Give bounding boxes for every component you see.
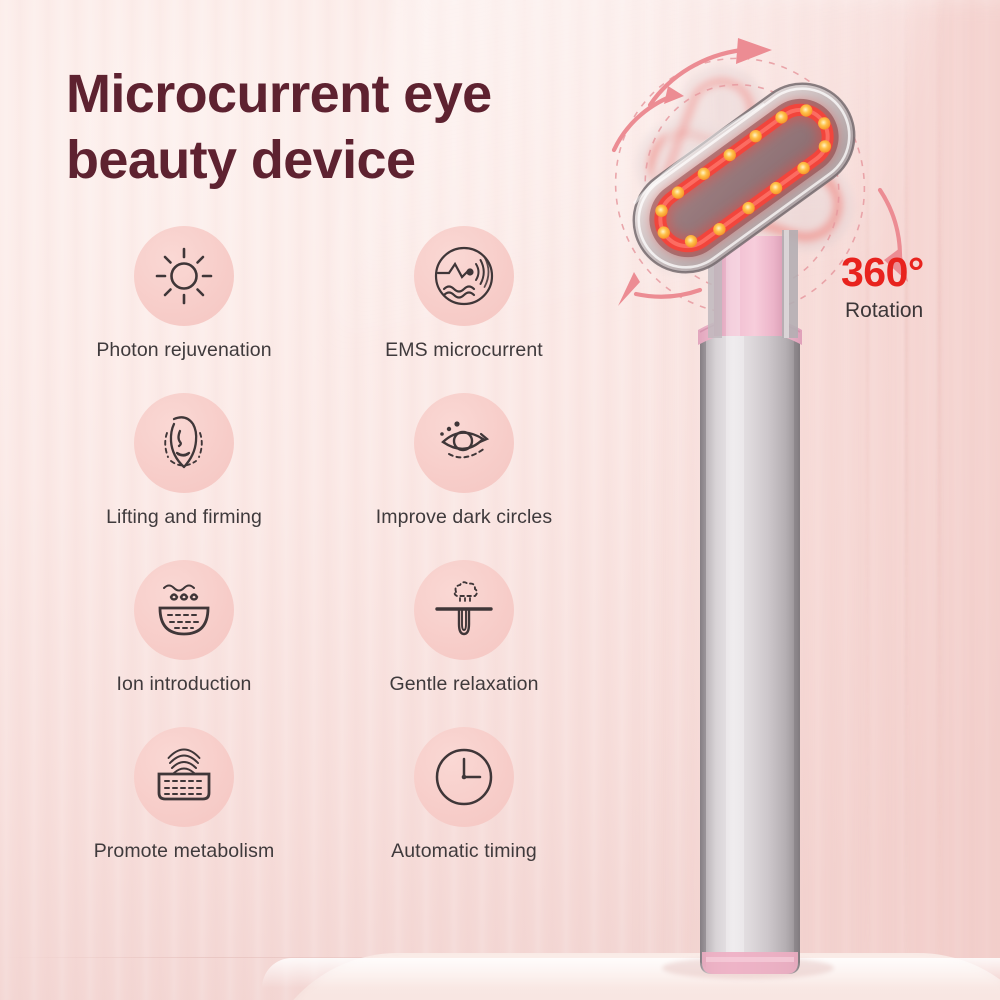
feature-icon-circle (134, 560, 234, 660)
feature-icon-circle (414, 393, 514, 493)
ems-wave-icon (432, 244, 496, 308)
feature-label: Automatic timing (391, 840, 537, 863)
page-title: Microcurrent eye beauty device (66, 62, 626, 194)
feature-label: Ion introduction (117, 673, 252, 696)
feature-label: EMS microcurrent (385, 339, 543, 362)
feature-icon-circle (134, 727, 234, 827)
feature-icon-circle (414, 727, 514, 827)
table-pedestal-rim (262, 958, 1000, 988)
feature-icon-circle (134, 226, 234, 326)
background-vertical-line-3 (866, 0, 869, 1000)
feature-row-1: Photon rejuvenation EMS microcurr (44, 226, 604, 362)
sun-icon (153, 245, 215, 307)
feature-item-improve-dark-circles: Improve dark circles (324, 393, 604, 529)
page-title-line-2: beauty device (66, 128, 626, 194)
feature-item-lifting-and-firming: Lifting and firming (44, 393, 324, 529)
feature-item-ion-introduction: Ion introduction (44, 560, 324, 696)
rotation-badge: 360° Rotation (841, 252, 924, 321)
rotation-degrees: 360° (841, 252, 924, 293)
water-droplet-icon (152, 580, 216, 640)
pore-steam-icon (432, 579, 496, 641)
feature-item-automatic-timing: Automatic timing (324, 727, 604, 863)
feature-label: Improve dark circles (376, 506, 552, 529)
feature-label: Gentle relaxation (389, 673, 538, 696)
feature-row-3: Ion introduction Gentle relaxation (44, 560, 604, 696)
feature-list: Photon rejuvenation EMS microcurr (44, 226, 604, 863)
feature-row-2: Lifting and firming Improve dark circles (44, 393, 604, 529)
clock-icon (433, 746, 495, 808)
skin-waves-icon (151, 747, 217, 807)
feature-item-promote-metabolism: Promote metabolism (44, 727, 324, 863)
feature-icon-circle (134, 393, 234, 493)
feature-item-gentle-relaxation: Gentle relaxation (324, 560, 604, 696)
face-lifting-icon (152, 411, 216, 475)
background-vertical-line-2 (938, 0, 941, 1000)
feature-label: Photon rejuvenation (96, 339, 271, 362)
product-marketing-image: Microcurrent eye beauty device (0, 0, 1000, 1000)
feature-label: Lifting and firming (106, 506, 262, 529)
feature-icon-circle (414, 226, 514, 326)
feature-icon-circle (414, 560, 514, 660)
feature-item-ems-microcurrent: EMS microcurrent (324, 226, 604, 362)
feature-row-4: Promote metabolism Automatic timing (44, 727, 604, 863)
feature-item-photon-rejuvenation: Photon rejuvenation (44, 226, 324, 362)
feature-label: Promote metabolism (94, 840, 275, 863)
background-vertical-line-1 (905, 0, 908, 1000)
rotation-label: Rotation (845, 300, 924, 321)
page-title-line-1: Microcurrent eye (66, 62, 626, 128)
eye-icon (431, 414, 497, 472)
